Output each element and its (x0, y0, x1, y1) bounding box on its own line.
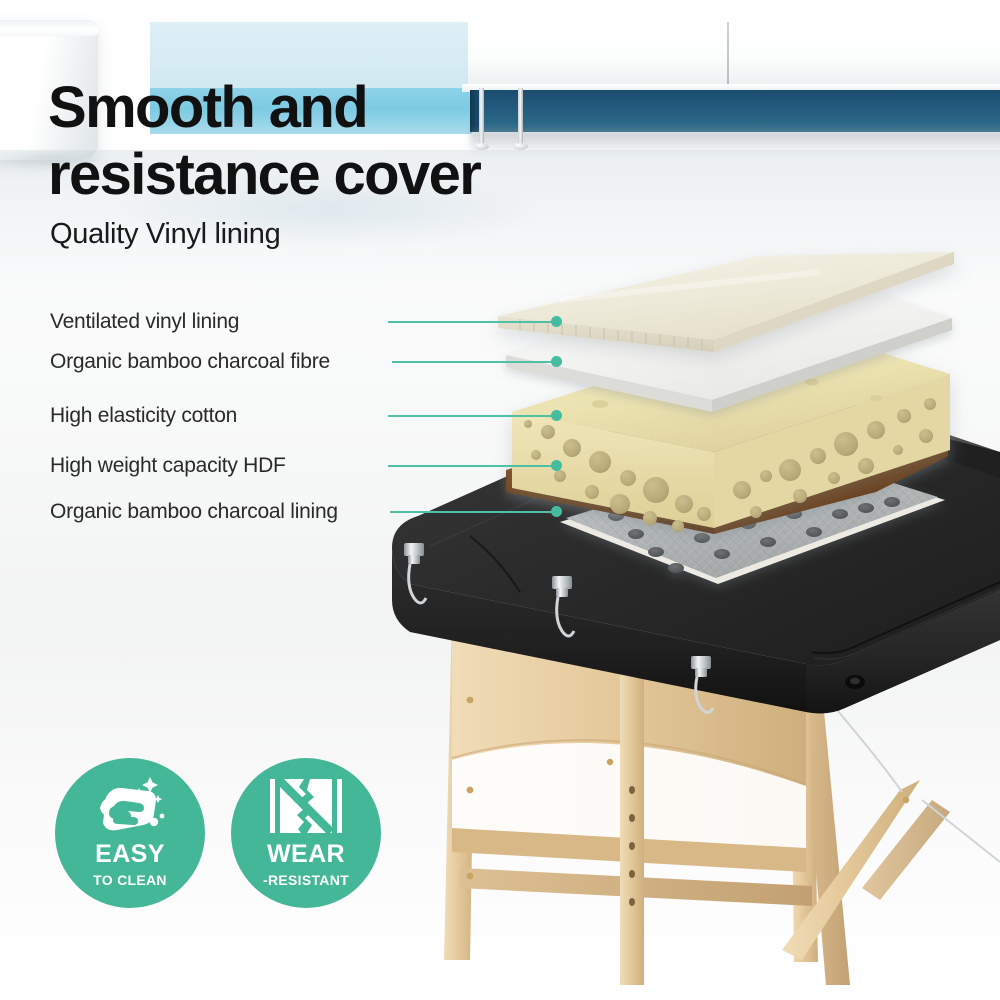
badge-title: WEAR (267, 842, 345, 867)
wiping-hand-cloth-icon (92, 775, 168, 837)
page-subtitle: Quality Vinyl lining (50, 218, 280, 251)
callout-dot-icon (551, 506, 562, 517)
callout-line-3 (388, 415, 556, 417)
tear-crossed-out-icon (268, 775, 344, 837)
callout-label-high-weight-capacity-hdf: High weight capacity HDF (50, 454, 286, 478)
badge-wear-resistant: WEAR -RESISTANT (231, 758, 381, 908)
badge-subtitle: TO CLEAN (93, 873, 167, 887)
callout-line-2 (392, 361, 556, 363)
headline-line-1: Smooth and (48, 75, 367, 140)
headline-line-2: resistance cover (48, 145, 608, 204)
callout-line-1 (388, 321, 556, 323)
callout-line-4 (388, 465, 556, 467)
page-title: Smooth and resistance cover (48, 78, 608, 204)
callout-dot-icon (551, 316, 562, 327)
callout-line-5 (390, 511, 556, 513)
badge-subtitle: -RESISTANT (263, 873, 349, 887)
product-infographic: Smooth and resistance cover Quality Viny… (0, 0, 1000, 1000)
callout-label-organic-bamboo-charcoal-fibre: Organic bamboo charcoal fibre (50, 350, 330, 374)
callout-dot-icon (551, 410, 562, 421)
callout-label-ventilated-vinyl-lining: Ventilated vinyl lining (50, 310, 239, 334)
callout-label-organic-bamboo-charcoal-lining: Organic bamboo charcoal lining (50, 500, 338, 524)
badge-title: EASY (95, 842, 165, 867)
callout-dot-icon (551, 356, 562, 367)
badge-easy-to-clean: EASY TO CLEAN (55, 758, 205, 908)
callout-dot-icon (551, 460, 562, 471)
callout-label-high-elasticity-cotton: High elasticity cotton (50, 404, 237, 428)
